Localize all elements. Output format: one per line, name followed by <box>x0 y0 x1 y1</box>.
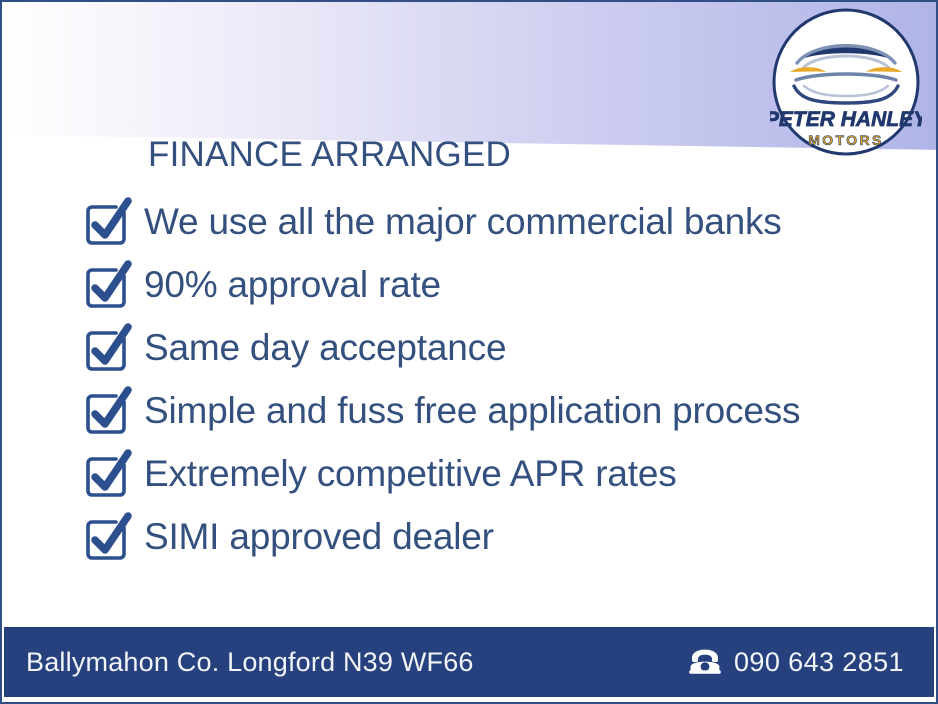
list-item: Simple and fuss free application process <box>82 379 882 442</box>
benefit-label: Same day acceptance <box>144 329 506 366</box>
benefit-label: SIMI approved dealer <box>144 518 494 555</box>
checkbox-checked-icon <box>82 386 134 436</box>
contact-footer-bar: Ballymahon Co. Longford N39 WF66 090 643… <box>4 627 934 697</box>
benefit-label: Simple and fuss free application process <box>144 392 800 429</box>
checkbox-checked-icon <box>82 512 134 562</box>
footer-phone[interactable]: 090 643 2851 <box>688 647 904 678</box>
list-item: Same day acceptance <box>82 316 882 379</box>
checkbox-checked-icon <box>82 197 134 247</box>
footer-phone-number: 090 643 2851 <box>734 647 904 678</box>
list-item: We use all the major commercial banks <box>82 190 882 253</box>
benefit-label: We use all the major commercial banks <box>144 203 782 240</box>
telephone-icon <box>688 649 722 675</box>
brand-logo: PETER HANLEY MOTORS <box>770 6 922 158</box>
list-item: SIMI approved dealer <box>82 505 882 568</box>
finance-promo-poster: PETER HANLEY MOTORS FINANCE ARRANGED We … <box>0 0 938 704</box>
checkbox-checked-icon <box>82 260 134 310</box>
brand-name-line1: PETER HANLEY <box>770 108 922 131</box>
benefits-list: We use all the major commercial banks 90… <box>82 190 882 568</box>
footer-address: Ballymahon Co. Longford N39 WF66 <box>26 647 474 678</box>
benefit-label: 90% approval rate <box>144 266 441 303</box>
list-item: 90% approval rate <box>82 253 882 316</box>
checkbox-checked-icon <box>82 323 134 373</box>
brand-name-line2: MOTORS <box>808 132 884 148</box>
checkbox-checked-icon <box>82 449 134 499</box>
page-title: FINANCE ARRANGED <box>148 135 511 175</box>
benefit-label: Extremely competitive APR rates <box>144 455 677 492</box>
list-item: Extremely competitive APR rates <box>82 442 882 505</box>
